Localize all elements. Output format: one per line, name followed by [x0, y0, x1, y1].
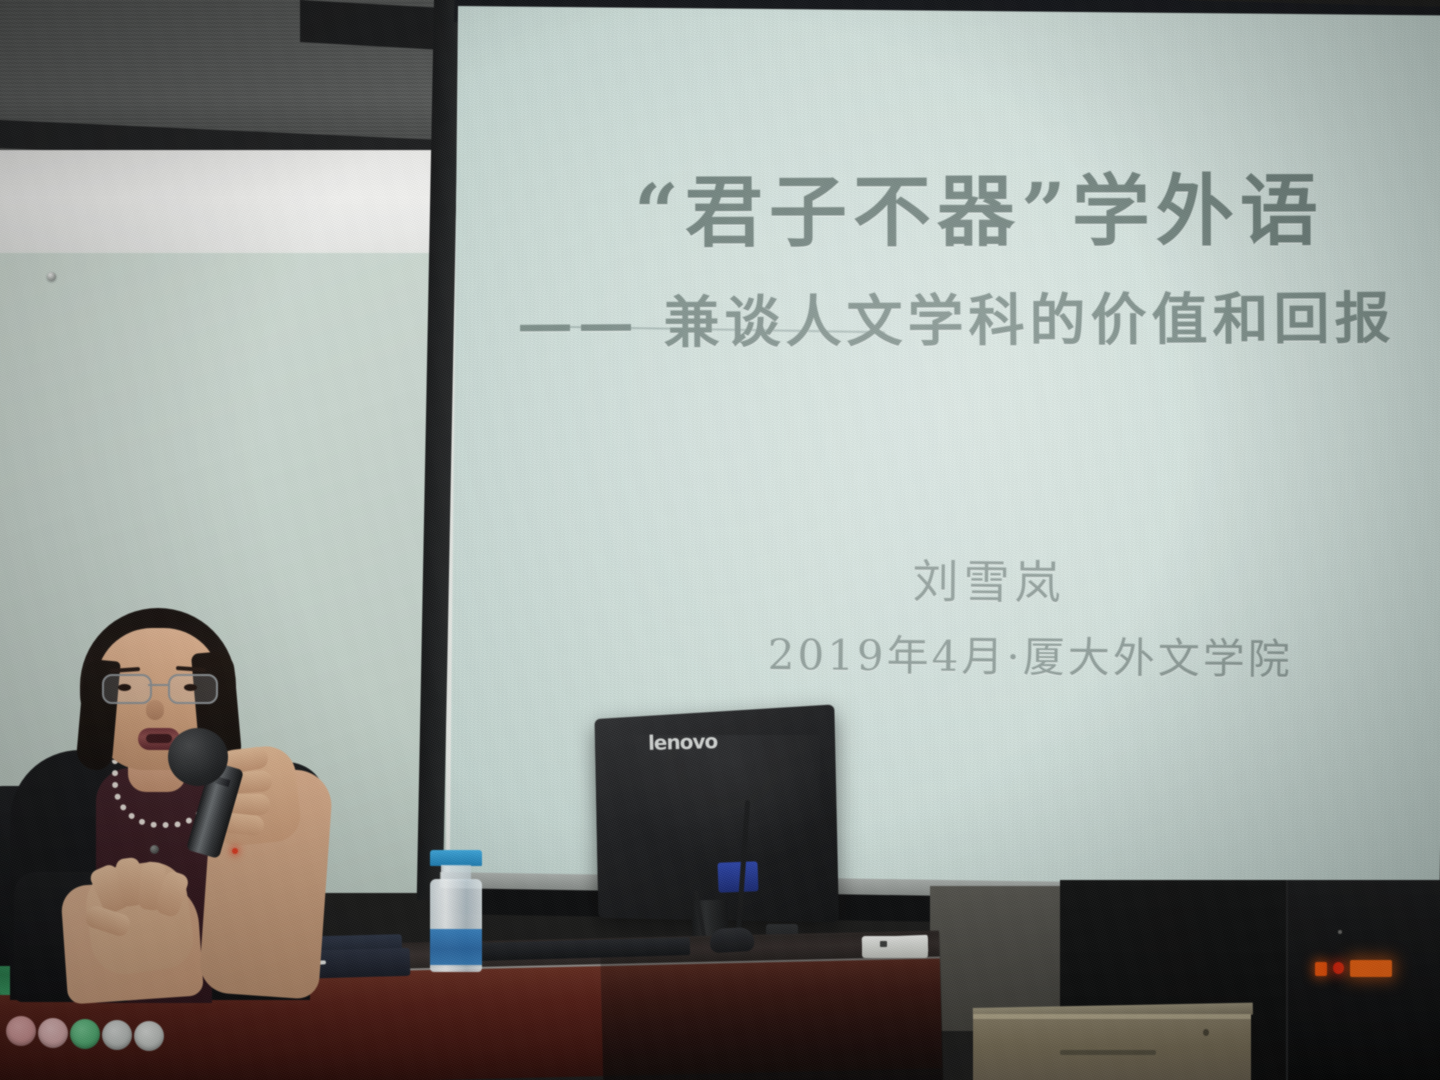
speaker-figure	[0, 600, 340, 1000]
nose	[146, 700, 164, 720]
slide-date-venue: 2019年4月·厦大外文学院	[768, 621, 1294, 687]
lenovo-logo: lenovo	[648, 729, 718, 755]
desk-sticker-icon	[102, 1020, 132, 1050]
desk-sticker-icon	[70, 1019, 100, 1049]
cabinet-drawer-handle[interactable]	[1060, 1050, 1156, 1055]
cabinet-lock-icon	[1203, 1029, 1209, 1036]
bottle-label	[430, 929, 482, 964]
microphone-head	[168, 728, 228, 786]
slide-author-name: 刘雪岚	[912, 545, 1066, 612]
lecture-photo-scene: “君子不器”学外语 —— 兼谈人文学科的价值和回报 刘雪岚 2019年4月·厦大…	[0, 0, 1440, 1080]
eye-left	[118, 684, 131, 691]
bottle-body	[430, 879, 482, 972]
desk-sticker-icon	[134, 1021, 164, 1051]
remote-button-icon[interactable]	[880, 941, 887, 947]
rack-small-indicator-icon	[1338, 930, 1342, 934]
desk-sticker-icon	[6, 1016, 36, 1046]
eye-right	[184, 684, 197, 691]
rack-display-led-icon	[1350, 960, 1392, 977]
water-bottle-center[interactable]	[430, 850, 482, 972]
equipment-rack	[1286, 880, 1440, 1080]
desk-sticker-icon	[38, 1018, 68, 1048]
remote-control-device[interactable]	[862, 936, 928, 958]
glasses-bridge	[148, 684, 168, 686]
rack-status-led-icon	[1333, 962, 1344, 974]
slide-title: “君子不器”学外语	[634, 171, 1440, 255]
slide-subtitle: —— 兼谈人文学科的价值和回报	[517, 288, 1440, 355]
microphone-power-led-icon	[232, 848, 238, 854]
whiteboard-mount-screw-icon	[47, 272, 56, 281]
bottle-cap-icon	[430, 850, 482, 866]
wooden-cabinet	[973, 1014, 1251, 1080]
mouth-interior	[146, 734, 172, 743]
garment-button-icon	[150, 845, 159, 854]
monitor-cable-blue-connector	[717, 861, 758, 892]
mouse[interactable]	[709, 927, 754, 953]
rack-power-led-icon	[1315, 962, 1327, 976]
